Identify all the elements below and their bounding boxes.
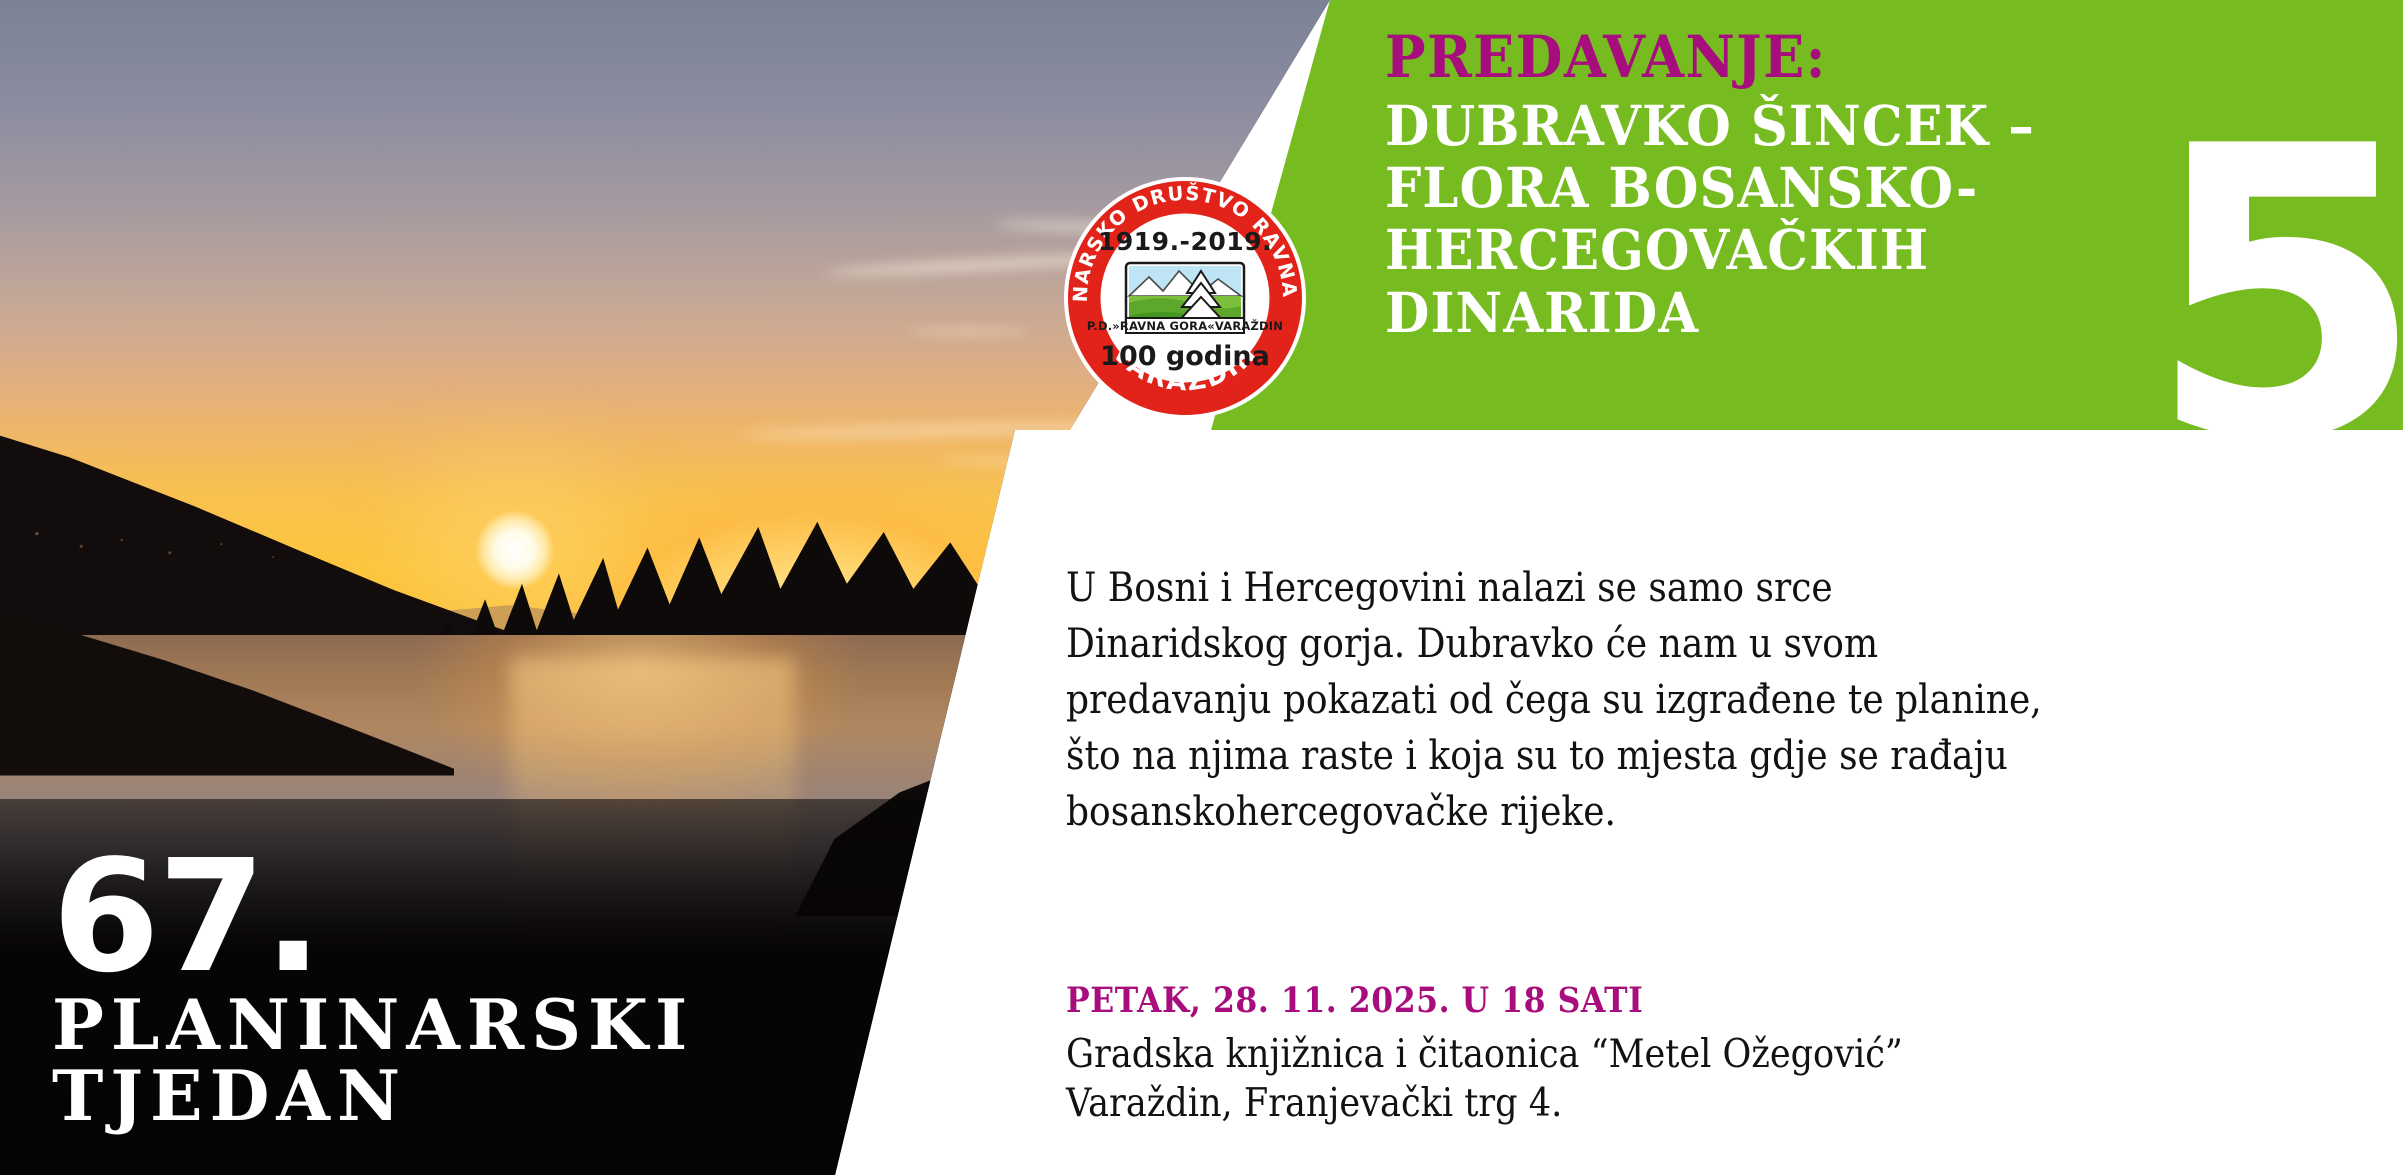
paragraph-line-4: što na njima raste i koja su to mjesta g… [1066,728,2173,784]
event-number-badge: 5 [2147,132,2403,460]
headline-line-1: DUBRAVKO ŠINCEK – [1385,95,2203,157]
lecture-headline: DUBRAVKO ŠINCEK – FLORA BOSANSKO- HERCEG… [1385,95,2203,344]
headline-line-3: HERCEGOVAČKIH [1385,219,2203,281]
series-title-line-2: TJEDAN [52,1061,694,1133]
series-edition-number: 67. [52,850,694,983]
event-address: Varaždin, Franjevački trg 4. [1066,1079,2173,1128]
paragraph-line-2: Dinaridskog gorja. Dubravko će nam u svo… [1066,616,2173,672]
poster-root: PREDAVANJE: DUBRAVKO ŠINCEK – FLORA BOSA… [0,0,2403,1175]
series-title-line-1: PLANINARSKI [52,990,694,1062]
paragraph-line-1: U Bosni i Hercegovini nalazi se samo src… [1066,560,2173,616]
paragraph-line-5: bosanskohercegovačke rijeke. [1066,784,2173,840]
green-panel-text-group: PREDAVANJE: DUBRAVKO ŠINCEK – FLORA BOSA… [1385,28,2265,344]
event-details: PETAK, 28. 11. 2025. U 18 SATI Gradska k… [1066,980,2173,1128]
paragraph-line-3: predavanju pokazati od čega su izgrađene… [1066,672,2173,728]
logo-anniversary: 100 godina [1100,341,1270,372]
logo-emblem-caption: P.D.»RAVNA GORA«VARAŽDIN [1087,318,1283,333]
headline-line-2: FLORA BOSANSKO- [1385,157,2203,219]
cloud-streak [909,329,1029,334]
sun [476,511,554,589]
event-venue: Gradska knjižnica i čitaonica “Metel Ože… [1066,1030,2173,1079]
village-lights [0,470,369,576]
description-paragraph: U Bosni i Hercegovini nalazi se samo src… [1066,560,2173,840]
event-datetime: PETAK, 28. 11. 2025. U 18 SATI [1066,980,2173,1021]
headline-line-4: DINARIDA [1385,282,2203,344]
club-logo: PLANINARSKO DRUŠTVO RAVNA GORA VARAŽDIN … [1062,175,1308,421]
lecture-kicker: PREDAVANJE: [1385,28,2203,87]
event-series-title: 67. PLANINARSKI TJEDAN [52,850,694,1133]
logo-years: 1919.-2019. [1098,227,1272,256]
